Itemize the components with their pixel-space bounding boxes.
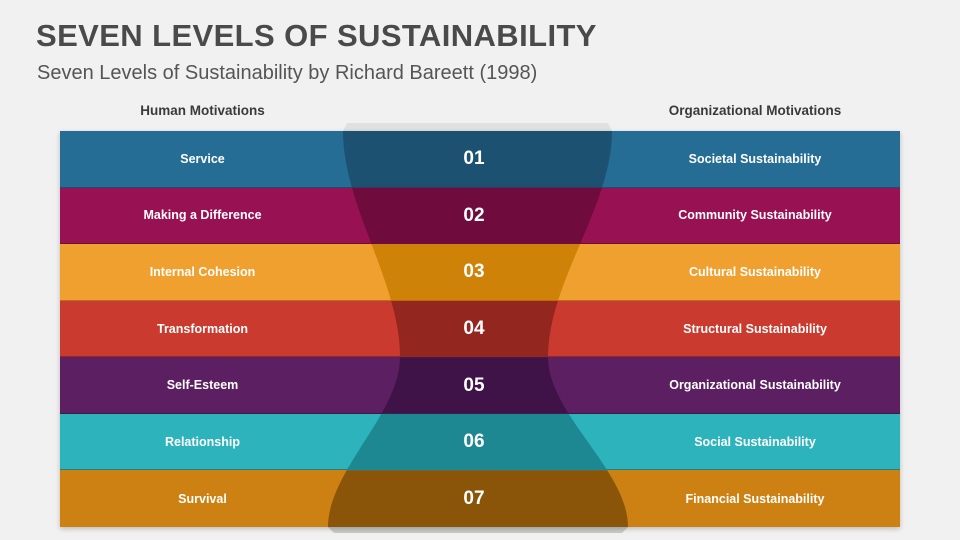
column-header-organizational-motivations: Organizational Motivations: [610, 103, 900, 118]
seven-levels-diagram: ServiceSocietal SustainabilityMaking a D…: [60, 131, 900, 527]
level-number-cell-07: 07: [60, 470, 900, 527]
page-title: SEVEN LEVELS OF SUSTAINABILITY: [36, 18, 597, 54]
level-number-05: 05: [463, 375, 496, 397]
level-number-cell-05: 05: [60, 357, 900, 414]
level-number-01: 01: [463, 148, 496, 170]
level-number-04: 04: [463, 318, 496, 340]
level-number-02: 02: [463, 205, 496, 227]
level-number-06: 06: [463, 431, 496, 453]
level-number-cell-03: 03: [60, 244, 900, 301]
level-number-cell-01: 01: [60, 131, 900, 188]
funnel-bottom-shadow: [328, 527, 628, 533]
level-number-07: 07: [463, 488, 496, 510]
column-header-human-motivations: Human Motivations: [60, 103, 345, 118]
level-number-03: 03: [463, 261, 496, 283]
funnel-top-shadow: [343, 123, 612, 131]
level-number-cell-02: 02: [60, 188, 900, 245]
level-number-cell-04: 04: [60, 301, 900, 358]
level-number-cell-06: 06: [60, 414, 900, 471]
page-subtitle: Seven Levels of Sustainability by Richar…: [37, 62, 537, 85]
